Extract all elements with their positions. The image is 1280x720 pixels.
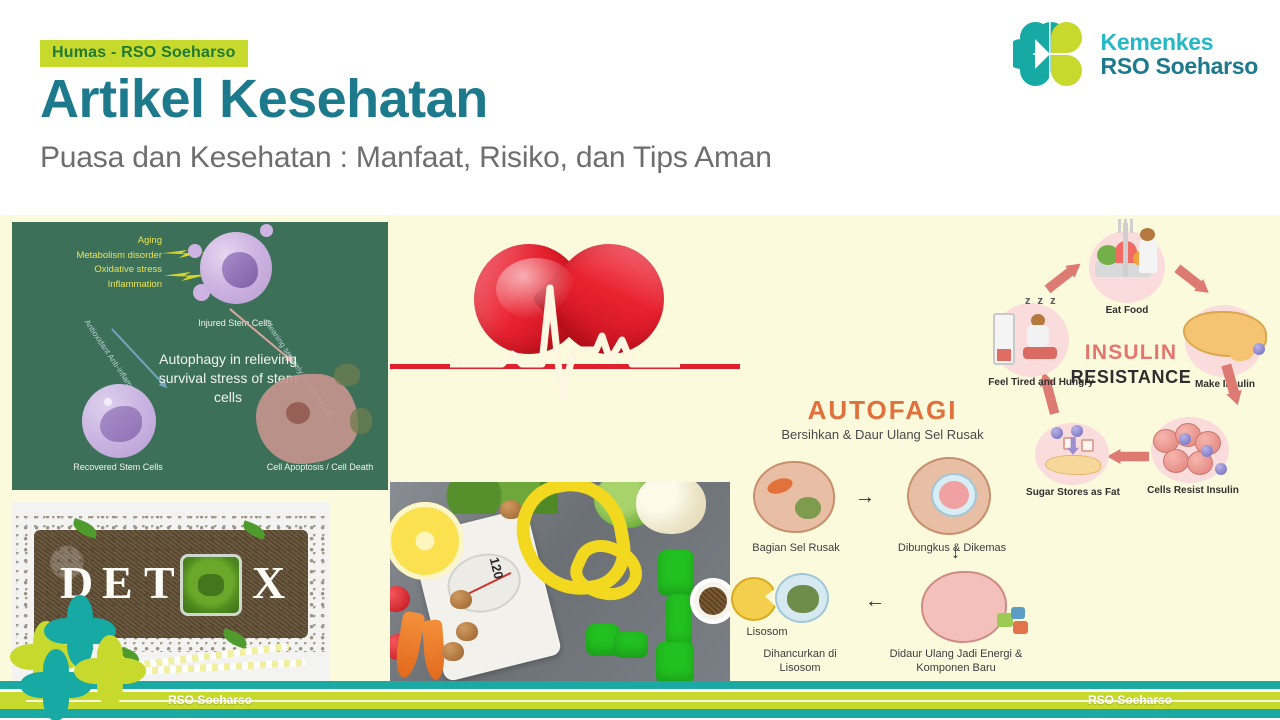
footer-label-left: RSO Soeharso — [168, 693, 252, 707]
seeds-bowl-icon — [690, 578, 730, 624]
content-band: Aging Metabolism disorder Oxidative stre… — [0, 215, 1280, 681]
cell-blob — [260, 224, 273, 237]
footer-stripe-teal-bottom — [0, 709, 1280, 718]
person-body — [1027, 325, 1049, 347]
damaged-cell-part-icon — [753, 461, 835, 533]
apoptotic-cell-icon — [256, 374, 358, 464]
cell-apoptosis-label: Cell Apoptosis / Cell Death — [250, 462, 388, 472]
autofagi-step-1-label: Bagian Sel Rusak — [741, 541, 851, 555]
autofagi-step-3-label: Didaur Ulang Jadi Energi & Komponen Baru — [883, 647, 1029, 676]
hazelnut-icon — [456, 622, 478, 641]
cell-blob — [188, 244, 202, 258]
kemenkes-flower-icon — [1013, 20, 1089, 88]
fork-icon — [1123, 223, 1128, 277]
component-block-icon — [1011, 607, 1025, 619]
recovered-stem-cells-label: Recovered Stem Cells — [58, 462, 178, 472]
autophagy-stem-cell-diagram: Aging Metabolism disorder Oxidative stre… — [12, 222, 388, 490]
hazelnut-icon — [450, 590, 472, 609]
insulin-step-1-label: Eat Food — [1079, 305, 1175, 316]
arrow-right-icon: → — [855, 487, 875, 507]
kemenkes-logo: Kemenkes RSO Soeharso — [1013, 20, 1258, 88]
detox-letter-x: X — [252, 556, 285, 609]
cycle-arrow-icon — [1043, 258, 1085, 296]
insulin-resistance-cycle: INSULIN RESISTANCE Eat Food Make Insulin… — [985, 227, 1277, 507]
tired-person-icon — [1019, 319, 1063, 365]
person-legs — [1023, 347, 1057, 359]
heart-ecg-graphic — [390, 222, 740, 482]
glucose-molecule-icon — [1071, 425, 1083, 437]
flower-icon — [82, 643, 138, 699]
low-battery-icon — [993, 313, 1015, 365]
healthy-lifestyle-photo: 120 0 — [390, 482, 730, 681]
dumbbell-icon — [658, 550, 694, 596]
arrow-down-icon: ↓ — [951, 543, 960, 561]
page-header: Humas - RSO Soeharso Artikel Kesehatan P… — [0, 0, 1280, 215]
kemenkes-logo-text: Kemenkes RSO Soeharso — [1101, 30, 1258, 78]
page-subtitle: Puasa dan Kesehatan : Manfaat, Risiko, d… — [40, 140, 772, 176]
footer-stripe-teal-top — [0, 681, 1280, 689]
injured-stem-cell-icon — [200, 232, 272, 304]
autofagi-step-4-label: Dihancurkan di Lisosom — [745, 647, 855, 676]
insulin-molecule-icon — [1215, 463, 1227, 475]
dumbbell-handle — [666, 594, 692, 648]
page-footer: RSO Soeharso RSO Soeharso — [0, 681, 1280, 720]
glucose-molecule-icon — [1051, 427, 1063, 439]
ecg-waveform-icon — [450, 278, 680, 408]
green-smoothie-jar-icon — [180, 554, 242, 616]
component-block-icon — [1013, 621, 1028, 634]
cycle-arrow-icon — [1173, 262, 1214, 298]
arrow-left-icon: ← — [865, 591, 885, 611]
hazelnut-icon — [442, 642, 464, 661]
footer-label-right: RSO Soeharso — [1088, 693, 1172, 707]
logo-line-kemenkes: Kemenkes — [1101, 30, 1258, 54]
humas-badge: Humas - RSO Soeharso — [40, 40, 248, 67]
sugar-cube-icon — [1081, 439, 1094, 452]
sleep-zzz-icon: z z z — [1025, 295, 1058, 307]
cycle-arrow-icon — [1107, 449, 1149, 464]
stress-factors-label: Aging Metabolism disorder Oxidative stre… — [32, 234, 162, 293]
insulin-molecule-icon — [1253, 343, 1265, 355]
insulin-step-2-label: Make Insulin — [1173, 379, 1277, 390]
vesicle-icon — [775, 573, 829, 623]
lysosome-label: Lisosom — [727, 625, 807, 639]
cell-debris-icon — [334, 364, 360, 386]
flower-decoration-group — [0, 595, 180, 720]
cell-debris-icon — [350, 408, 372, 434]
lysosome-icon — [731, 577, 777, 621]
logo-petals-svg — [1013, 20, 1089, 88]
person-eating-icon — [1139, 239, 1157, 273]
dumbbell-handle — [614, 632, 648, 658]
insulin-molecule-icon — [1179, 433, 1191, 445]
insulin-molecule-icon — [1201, 445, 1213, 457]
logo-line-rso: RSO Soeharso — [1101, 54, 1258, 78]
page-title: Artikel Kesehatan — [40, 68, 488, 130]
recycled-energy-cell-icon — [921, 571, 1007, 643]
dumbbell-icon — [656, 642, 694, 681]
insulin-step-5-label: Feel Tired and Hungry — [981, 377, 1101, 388]
insulin-step-4-label: Sugar Stores as Fat — [1021, 487, 1125, 498]
recovered-stem-cell-icon — [82, 384, 156, 458]
cell-face-icon — [939, 481, 969, 509]
scale-reading: 120 — [487, 556, 507, 581]
insulin-step-3-label: Cells Resist Insulin — [1141, 485, 1245, 496]
